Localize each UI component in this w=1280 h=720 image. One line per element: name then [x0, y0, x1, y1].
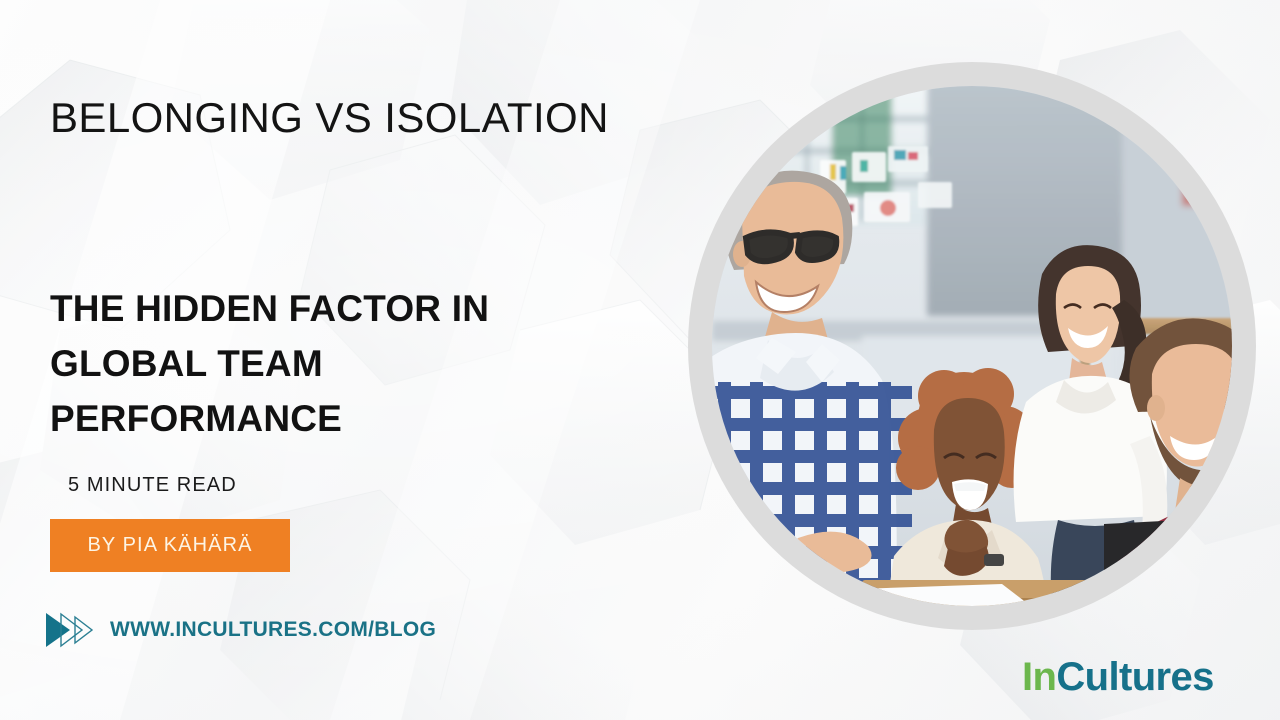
website-url-text: WWW.INCULTURES.COM/BLOG: [110, 618, 436, 642]
author-badge: BY PIA KÄHÄRÄ: [50, 519, 290, 572]
page-title-line-1: THE HIDDEN FACTOR IN: [50, 281, 610, 336]
logo-part-cultures: Cultures: [1056, 655, 1213, 699]
page-title: THE HIDDEN FACTOR IN GLOBAL TEAM PERFORM…: [50, 281, 610, 446]
page-title-line-3: PERFORMANCE: [50, 391, 610, 446]
blog-promo-slide: BELONGING VS ISOLATION THE HIDDEN FACTOR…: [0, 0, 1280, 720]
website-link[interactable]: WWW.INCULTURES.COM/BLOG: [44, 610, 436, 650]
team-photo: [712, 86, 1232, 606]
page-kicker: BELONGING VS ISOLATION: [50, 96, 609, 140]
photo-scene: [712, 86, 1232, 606]
inculture-logo: InCultures: [1022, 655, 1214, 700]
read-time-label: 5 MINUTE READ: [68, 474, 237, 497]
author-name: BY PIA KÄHÄRÄ: [87, 534, 252, 557]
triple-chevron-icon: [44, 610, 96, 650]
logo-part-in: In: [1022, 655, 1056, 699]
page-title-line-2: GLOBAL TEAM: [50, 336, 610, 391]
